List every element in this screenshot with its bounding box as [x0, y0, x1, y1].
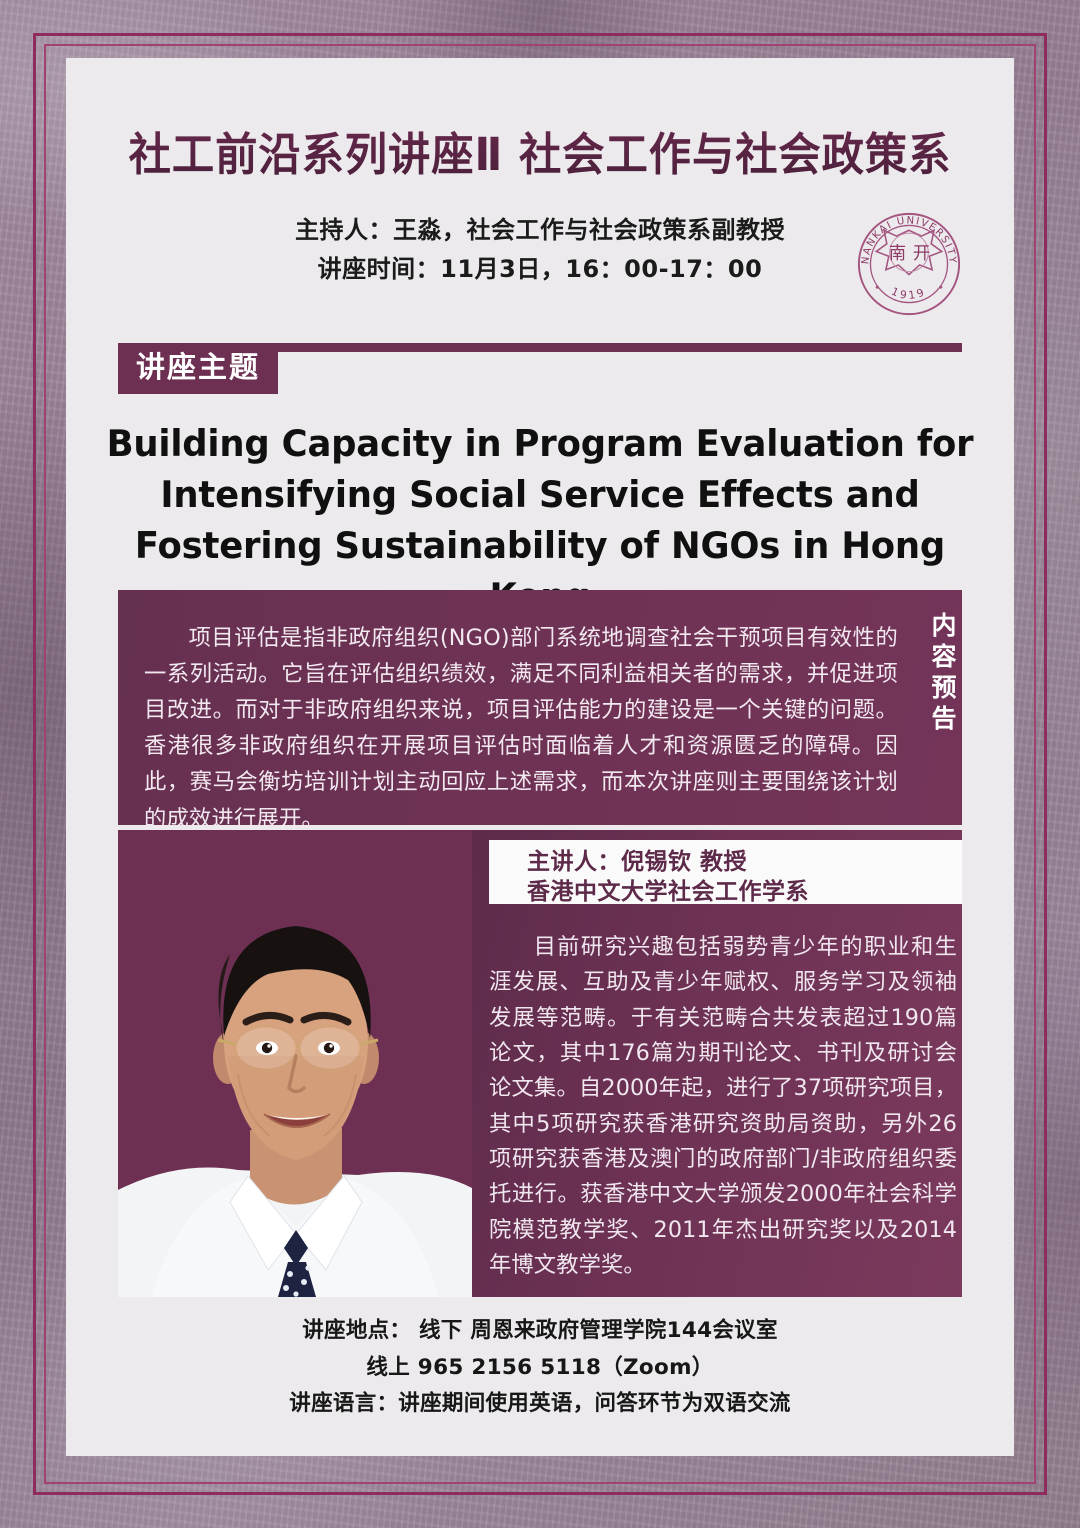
- svg-text:NANKAI UNIVERSITY: NANKAI UNIVERSITY: [860, 215, 957, 264]
- topic-badge: 讲座主题: [118, 343, 278, 394]
- speaker-section: 主讲人：倪锡钦 教授 香港中文大学社会工作学系 目前研究兴趣包括弱势青少年的职业…: [118, 830, 962, 1297]
- abstract-body: 项目评估是指非政府组织(NGO)部门系统地调查社会干预项目有效性的一系列活动。它…: [118, 590, 906, 825]
- svg-text:开: 开: [913, 244, 930, 264]
- speaker-name: 主讲人：倪锡钦 教授: [527, 847, 962, 877]
- lecture-title-line-1: Building Capacity in Program Evaluation …: [100, 418, 981, 469]
- nankai-university-seal-icon: NANKAI UNIVERSITY 1919 南 开: [856, 211, 962, 317]
- series-title: 社工前沿系列讲座Ⅱ 社会工作与社会政策系: [94, 58, 985, 183]
- language-line: 讲座语言：讲座期间使用英语，问答环节为双语交流: [66, 1386, 1014, 1423]
- venue-line: 讲座地点： 线下 周恩来政府管理学院144会议室: [66, 1313, 1014, 1350]
- online-line: 线上 965 2156 5118（Zoom）: [66, 1350, 1014, 1387]
- svg-text:南: 南: [889, 244, 906, 264]
- footer-info: 讲座地点： 线下 周恩来政府管理学院144会议室 线上 965 2156 511…: [66, 1313, 1014, 1423]
- speaker-affiliation: 香港中文大学社会工作学系: [527, 877, 962, 907]
- abstract-panel: 项目评估是指非政府组织(NGO)部门系统地调查社会干预项目有效性的一系列活动。它…: [118, 590, 962, 825]
- abstract-side-label: 内容预告: [906, 590, 962, 825]
- lecture-title-line-2: Intensifying Social Service Effects and: [100, 469, 981, 520]
- speaker-portrait-photo: [118, 830, 472, 1297]
- speaker-name-card: 主讲人：倪锡钦 教授 香港中文大学社会工作学系: [489, 840, 962, 904]
- speaker-bio-text: 目前研究兴趣包括弱势青少年的职业和生涯发展、互助及青少年赋权、服务学习及领袖发展…: [489, 930, 967, 1283]
- poster-card: 社工前沿系列讲座Ⅱ 社会工作与社会政策系 主持人：王淼，社会工作与社会政策系副教…: [66, 58, 1014, 1456]
